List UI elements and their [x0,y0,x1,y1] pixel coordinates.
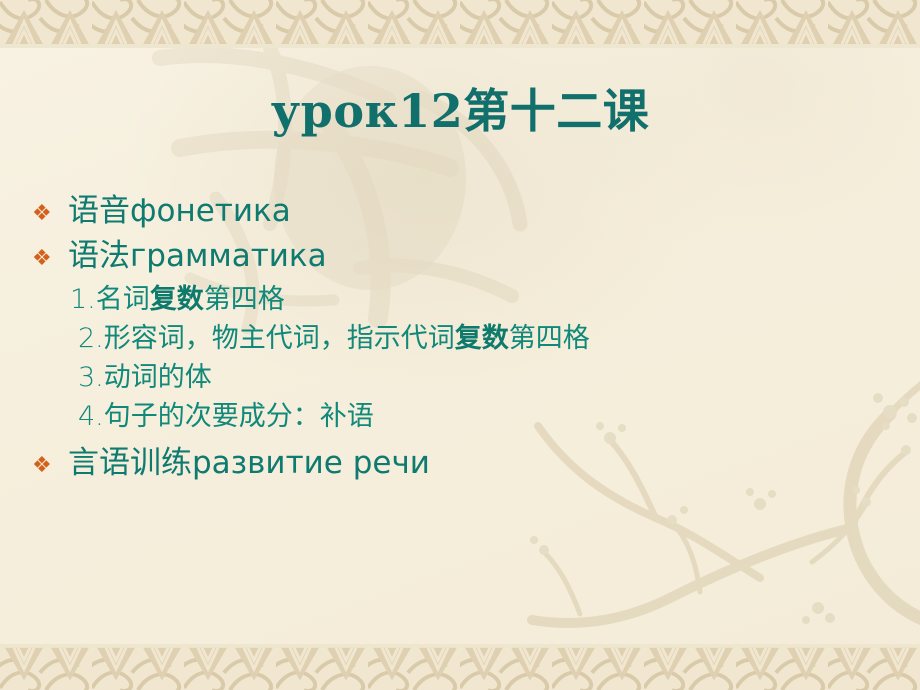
grammar-item-2-suffix: 第四格 [509,323,590,354]
grammar-item-2-emphasis: 复数 [455,323,509,354]
grammar-item-1-emphasis: 复数 [150,284,204,315]
page-title: урок12第十二课 [0,88,920,134]
grammar-item-1-prefix: 1.名词 [70,284,150,315]
diamond-bullet-icon: ❖ [32,241,66,273]
bullet-label-speech-practice: 言语训练развитие речи [66,448,430,479]
slide-content: урок12第十二课 ❖ 语音фонетика ❖ 语法грамматика 1… [0,0,920,690]
presentation-slide: урок12第十二课 ❖ 语音фонетика ❖ 语法грамматика 1… [0,0,920,690]
diamond-bullet-icon: ❖ [32,448,66,480]
grammar-item-1-suffix: 第四格 [204,284,285,315]
slide-body-list: ❖ 语音фонетика ❖ 语法грамматика 1.名词复数第四格 2.… [32,196,900,493]
grammar-item-3-prefix: 3.动词的体 [78,362,212,393]
grammar-item-3: 3.动词的体 [78,364,900,391]
grammar-item-4-prefix: 4.句子的次要成分：补语 [78,401,374,432]
bullet-item-grammar: ❖ 语法грамматика [32,241,900,273]
diamond-bullet-icon: ❖ [32,196,66,228]
grammar-item-1: 1.名词复数第四格 [70,286,900,313]
bullet-label-phonetics: 语音фонетика [66,196,291,227]
grammar-item-2-prefix: 2.形容词，物主代词，指示代词 [78,323,455,354]
bullet-item-speech-practice: ❖ 言语训练развитие речи [32,448,900,480]
grammar-item-2: 2.形容词，物主代词，指示代词复数第四格 [78,325,900,352]
grammar-item-4: 4.句子的次要成分：补语 [78,403,900,430]
bullet-item-phonetics: ❖ 语音фонетика [32,196,900,228]
bullet-label-grammar: 语法грамматика [66,241,327,272]
